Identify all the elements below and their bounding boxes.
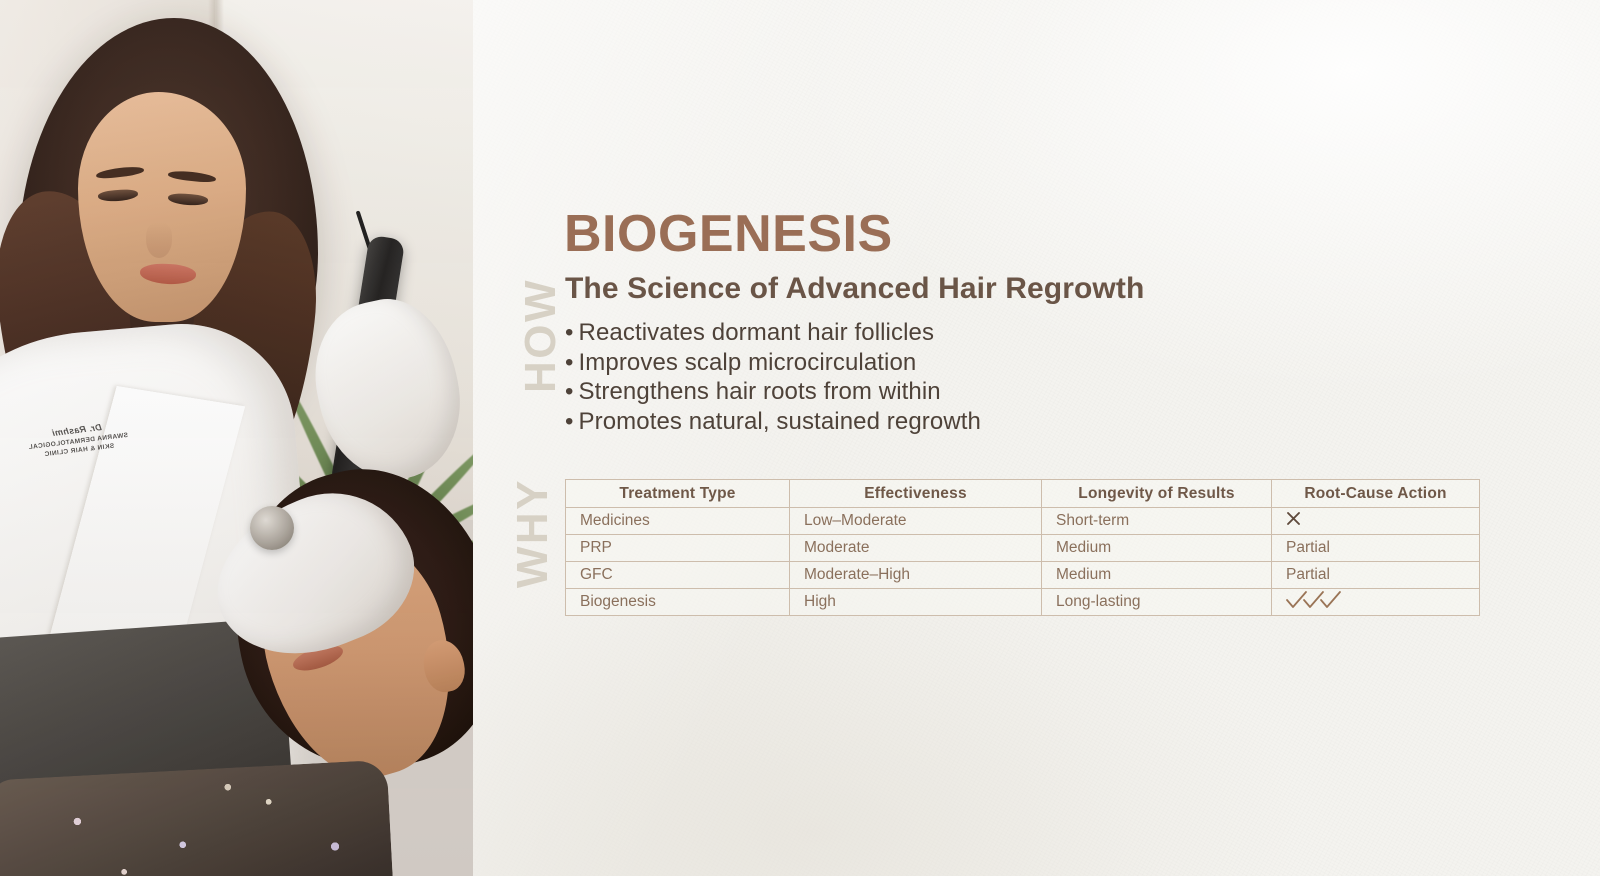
- cell-effectiveness: Low–Moderate: [790, 508, 1042, 535]
- bullet-dot-icon: •: [565, 378, 574, 405]
- bullet-dot-icon: •: [565, 408, 574, 435]
- cell-root-cause: Partial: [1272, 562, 1480, 589]
- section-label-why: WHY: [508, 478, 558, 588]
- list-item: •Improves scalp microcirculation: [565, 348, 981, 378]
- cell-root-cause: Partial: [1272, 535, 1480, 562]
- cell-root-cause: [1272, 508, 1480, 535]
- clinic-treatment-photo: Dr. Rashmi SWARNA DERMATOLOGICAL SKIN & …: [0, 0, 473, 876]
- cell-treatment: Medicines: [566, 508, 790, 535]
- table-header-row: Treatment Type Effectiveness Longevity o…: [566, 480, 1480, 508]
- cell-longevity: Short-term: [1042, 508, 1272, 535]
- list-item: •Reactivates dormant hair follicles: [565, 318, 981, 348]
- cell-treatment: Biogenesis: [566, 589, 790, 616]
- cell-effectiveness: Moderate: [790, 535, 1042, 562]
- paper-sheen-overlay: [473, 0, 1600, 876]
- doctor-nose: [146, 222, 172, 258]
- slide-root: Dr. Rashmi SWARNA DERMATOLOGICAL SKIN & …: [0, 0, 1600, 876]
- cell-longevity: Medium: [1042, 535, 1272, 562]
- table-row: Medicines Low–Moderate Short-term: [566, 508, 1480, 535]
- cell-effectiveness: Moderate–High: [790, 562, 1042, 589]
- patient-floral-dress: [0, 760, 393, 876]
- table-row: PRP Moderate Medium Partial: [566, 535, 1480, 562]
- cell-treatment: GFC: [566, 562, 790, 589]
- cell-effectiveness: High: [790, 589, 1042, 616]
- column-header-effectiveness: Effectiveness: [790, 480, 1042, 508]
- column-header-root-cause-action: Root-Cause Action: [1272, 480, 1480, 508]
- list-item-label: Improves scalp microcirculation: [579, 349, 917, 376]
- cell-longevity: Medium: [1042, 562, 1272, 589]
- list-item-label: Reactivates dormant hair follicles: [579, 319, 935, 346]
- list-item: •Strengthens hair roots from within: [565, 377, 981, 407]
- bullet-dot-icon: •: [565, 319, 574, 346]
- treatment-comparison-table: Treatment Type Effectiveness Longevity o…: [565, 479, 1480, 616]
- table-row: GFC Moderate–High Medium Partial: [566, 562, 1480, 589]
- benefits-list: •Reactivates dormant hair follicles •Imp…: [565, 318, 981, 436]
- cell-root-cause: [1272, 589, 1480, 616]
- cell-longevity: Long-lasting: [1042, 589, 1272, 616]
- bullet-dot-icon: •: [565, 349, 574, 376]
- list-item-label: Strengthens hair roots from within: [579, 378, 941, 405]
- cell-treatment: PRP: [566, 535, 790, 562]
- table-row: Biogenesis High Long-lasting: [566, 589, 1480, 616]
- triple-check-icon: [1286, 590, 1348, 610]
- page-title: BIOGENESIS: [564, 204, 893, 264]
- section-label-how: HOW: [516, 278, 566, 393]
- paper-texture-background: [473, 0, 1600, 876]
- list-item-label: Promotes natural, sustained regrowth: [579, 408, 981, 435]
- page-subtitle: The Science of Advanced Hair Regrowth: [565, 272, 1144, 306]
- column-header-longevity: Longevity of Results: [1042, 480, 1272, 508]
- cross-icon: [1286, 511, 1301, 530]
- column-header-treatment-type: Treatment Type: [566, 480, 790, 508]
- doctor-face: [78, 92, 246, 322]
- scalp-applicator-head: [250, 506, 294, 550]
- list-item: •Promotes natural, sustained regrowth: [565, 407, 981, 437]
